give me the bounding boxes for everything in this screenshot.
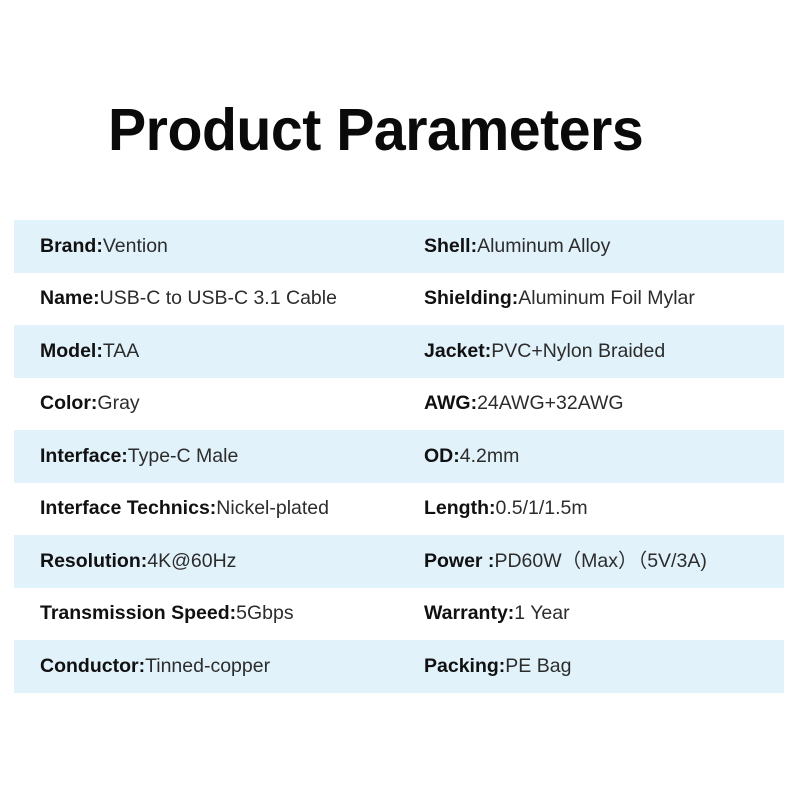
- spec-cell-right: Jacket: PVC+Nylon Braided: [424, 342, 665, 362]
- spec-value: 1 Year: [514, 604, 569, 624]
- table-row: Interface Technics: Nickel-plated Length…: [14, 483, 784, 536]
- product-parameters-page: Product Parameters Brand: Vention Shell:…: [0, 0, 800, 800]
- spec-value: USB-C to USB-C 3.1 Cable: [100, 289, 337, 309]
- spec-label: Length:: [424, 499, 495, 519]
- spec-value: Aluminum Alloy: [477, 237, 610, 257]
- spec-label: Resolution:: [40, 552, 147, 572]
- spec-label: Brand:: [40, 237, 103, 257]
- spec-label: OD:: [424, 447, 460, 467]
- spec-cell-left: Brand: Vention: [40, 237, 168, 257]
- spec-label: Color:: [40, 394, 97, 414]
- spec-value: Tinned-copper: [145, 657, 270, 677]
- spec-label: Power :: [424, 552, 494, 572]
- spec-label: Interface:: [40, 447, 128, 467]
- spec-label: Shielding:: [424, 289, 518, 309]
- spec-cell-right: Shell: Aluminum Alloy: [424, 237, 610, 257]
- spec-value: Nickel-plated: [216, 499, 329, 519]
- spec-value: PVC+Nylon Braided: [491, 342, 665, 362]
- spec-label: Interface Technics:: [40, 499, 216, 519]
- spec-value: 4K@60Hz: [147, 552, 236, 572]
- spec-label: Conductor:: [40, 657, 145, 677]
- spec-cell-left: Name: USB-C to USB-C 3.1 Cable: [40, 289, 337, 309]
- spec-value: PE Bag: [505, 657, 571, 677]
- spec-cell-right: Length: 0.5/1/1.5m: [424, 499, 588, 519]
- spec-cell-right: Packing: PE Bag: [424, 657, 571, 677]
- table-row: Model: TAA Jacket: PVC+Nylon Braided: [14, 325, 784, 378]
- spec-cell-right: AWG: 24AWG+32AWG: [424, 394, 624, 414]
- spec-value: TAA: [103, 342, 139, 362]
- table-row: Brand: Vention Shell: Aluminum Alloy: [14, 220, 784, 273]
- spec-cell-left: Color: Gray: [40, 394, 140, 414]
- table-row: Name: USB-C to USB-C 3.1 Cable Shielding…: [14, 273, 784, 326]
- spec-cell-right: Shielding: Aluminum Foil Mylar: [424, 289, 695, 309]
- table-row: Interface: Type-C Male OD: 4.2mm: [14, 430, 784, 483]
- table-row: Color: Gray AWG: 24AWG+32AWG: [14, 378, 784, 431]
- spec-cell-right: OD: 4.2mm: [424, 447, 519, 467]
- spec-cell-left: Interface Technics: Nickel-plated: [40, 499, 329, 519]
- spec-value: PD60W（Max）（5V/3A): [494, 552, 706, 572]
- spec-cell-left: Model: TAA: [40, 342, 139, 362]
- spec-value: 4.2mm: [460, 447, 520, 467]
- spec-value: 5Gbps: [236, 604, 293, 624]
- spec-cell-left: Resolution: 4K@60Hz: [40, 552, 236, 572]
- spec-cell-right: Warranty: 1 Year: [424, 604, 570, 624]
- spec-label: Packing:: [424, 657, 505, 677]
- spec-label: Transmission Speed:: [40, 604, 236, 624]
- spec-cell-right: Power : PD60W（Max）（5V/3A): [424, 552, 707, 572]
- spec-value: Aluminum Foil Mylar: [518, 289, 695, 309]
- spec-label: Shell:: [424, 237, 477, 257]
- spec-cell-left: Conductor: Tinned-copper: [40, 657, 270, 677]
- spec-cell-left: Transmission Speed: 5Gbps: [40, 604, 294, 624]
- spec-label: Jacket:: [424, 342, 491, 362]
- spec-cell-left: Interface: Type-C Male: [40, 447, 238, 467]
- spec-value: Type-C Male: [128, 447, 239, 467]
- spec-label: AWG:: [424, 394, 477, 414]
- spec-label: Model:: [40, 342, 103, 362]
- spec-label: Warranty:: [424, 604, 514, 624]
- spec-value: Vention: [103, 237, 168, 257]
- spec-table: Brand: Vention Shell: Aluminum Alloy Nam…: [14, 220, 784, 693]
- table-row: Resolution: 4K@60Hz Power : PD60W（Max）（5…: [14, 535, 784, 588]
- table-row: Transmission Speed: 5Gbps Warranty: 1 Ye…: [14, 588, 784, 641]
- spec-value: 0.5/1/1.5m: [495, 499, 587, 519]
- table-row: Conductor: Tinned-copper Packing: PE Bag: [14, 640, 784, 693]
- page-title: Product Parameters: [108, 95, 643, 165]
- spec-value: Gray: [97, 394, 139, 414]
- spec-label: Name:: [40, 289, 100, 309]
- spec-value: 24AWG+32AWG: [477, 394, 623, 414]
